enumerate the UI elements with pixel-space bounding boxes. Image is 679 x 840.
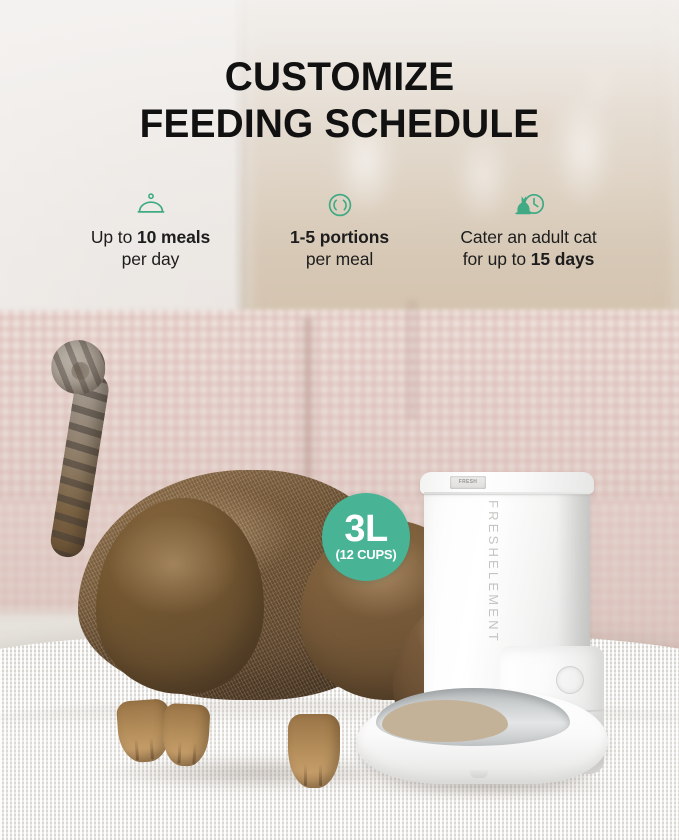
feature-meals-subline: per day [45,248,257,270]
feature-portions-highlight: 1-5 portions [290,227,389,247]
lid-brand-text: FRESH [450,476,486,489]
capacity-cups: (12 CUPS) [335,547,396,562]
bowl-notch [470,770,488,778]
feature-days-line1: Cater an adult cat [423,226,635,248]
capacity-volume: 3L [344,512,387,547]
lid-seam [424,492,590,495]
feature-days-highlight: 15 days [531,249,595,269]
power-button[interactable] [556,666,584,694]
cat-clock-icon [423,188,635,222]
headline-line-1: CUSTOMIZE [225,55,455,99]
feature-days-prefix: for up to [463,249,531,269]
product-poster: FRESH FRESHELEMENT 3L (12 CUPS) CUSTOMIZ… [0,0,679,840]
kibble-food [382,700,508,742]
feature-days-coverage: Cater an adult cat for up to 15 days [423,188,635,271]
page-title: CUSTOMIZE FEEDING SCHEDULE [10,54,669,148]
feature-portions-text: 1-5 portions [257,226,423,248]
feature-meals-highlight: 10 meals [137,227,210,247]
feature-meals-per-day: Up to 10 meals per day [45,188,257,271]
capacity-badge: 3L (12 CUPS) [322,493,410,581]
feature-portions-per-meal: 1-5 portions per meal [257,188,423,271]
lid-brand-badge: FRESH [450,476,486,489]
headline-line-2: FEEDING SCHEDULE [10,101,669,148]
feature-meals-prefix: Up to [91,227,137,247]
feature-list: Up to 10 meals per day 1-5 portions per … [0,188,679,271]
food-dome-icon [45,188,257,222]
feature-portions-subline: per meal [257,248,423,270]
feeder-lid[interactable] [420,472,594,494]
feature-days-line2: for up to 15 days [423,248,635,270]
brand-label: FRESHELEMENT [486,500,501,644]
portion-circle-icon [257,188,423,222]
feature-meals-text: Up to 10 meals [45,226,257,248]
